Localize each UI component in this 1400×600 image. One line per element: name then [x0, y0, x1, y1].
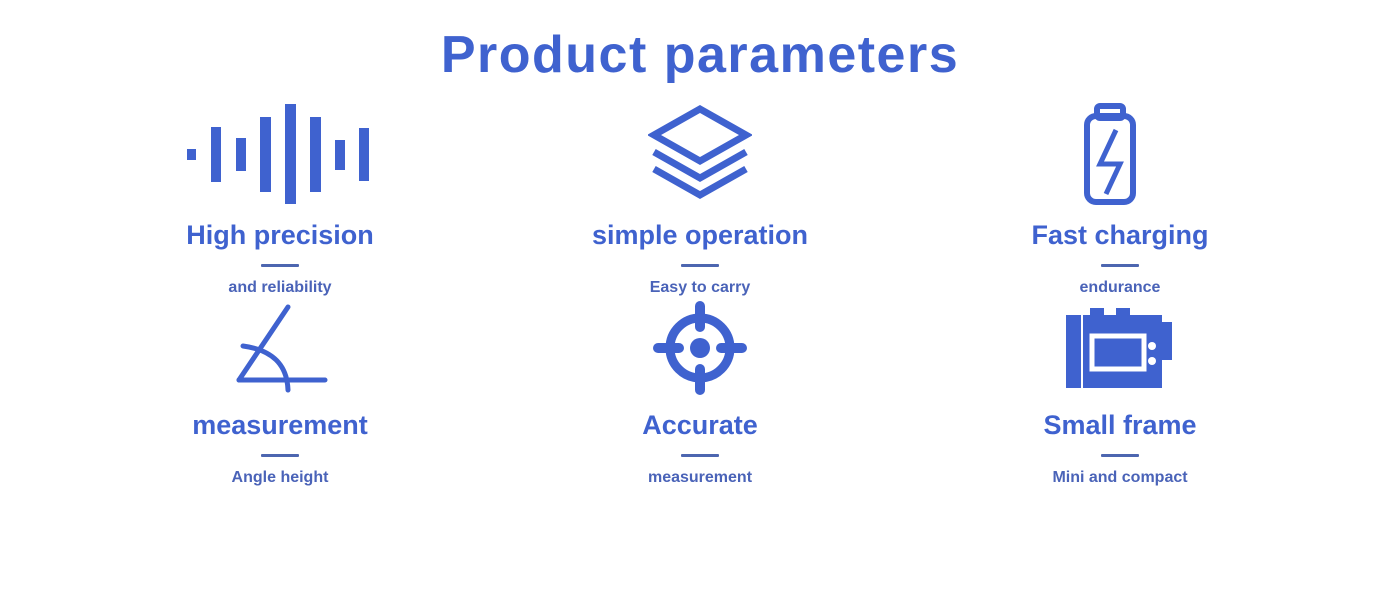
feature-title: simple operation	[592, 222, 808, 249]
feature-divider	[261, 264, 299, 267]
layers-icon	[648, 100, 752, 208]
feature-grid: High precision and reliability simple op…	[70, 100, 1330, 492]
feature-title: Accurate	[642, 412, 758, 439]
feature-subtitle: Angle height	[232, 470, 329, 486]
feature-divider	[681, 454, 719, 457]
feature-title: Small frame	[1043, 412, 1196, 439]
feature-card-small-frame: Small frame Mini and compact	[910, 296, 1330, 492]
feature-title: Fast charging	[1031, 222, 1208, 249]
feature-divider	[1101, 264, 1139, 267]
battery-charging-icon	[1083, 100, 1157, 208]
feature-subtitle: endurance	[1080, 280, 1161, 296]
page-title: Product parameters	[0, 0, 1400, 86]
feature-subtitle: Mini and compact	[1052, 470, 1187, 486]
product-parameters-infographic: Product parameters	[0, 0, 1400, 600]
feature-card-fast-charging: Fast charging endurance	[910, 100, 1330, 296]
feature-subtitle: Easy to carry	[650, 280, 751, 296]
feature-card-high-precision: High precision and reliability	[70, 100, 490, 296]
feature-divider	[681, 264, 719, 267]
feature-subtitle: and reliability	[228, 280, 331, 296]
waveform-icon	[185, 100, 375, 208]
feature-title: measurement	[192, 412, 368, 439]
feature-card-simple-operation: simple operation Easy to carry	[490, 100, 910, 296]
feature-card-measurement: measurement Angle height	[70, 296, 490, 492]
feature-divider	[261, 454, 299, 457]
measuring-device-icon	[1064, 296, 1176, 400]
angle-icon	[230, 296, 330, 400]
feature-title: High precision	[186, 222, 374, 249]
feature-divider	[1101, 454, 1139, 457]
feature-card-accurate: Accurate measurement	[490, 296, 910, 492]
feature-subtitle: measurement	[648, 470, 752, 486]
crosshair-target-icon	[653, 296, 747, 400]
